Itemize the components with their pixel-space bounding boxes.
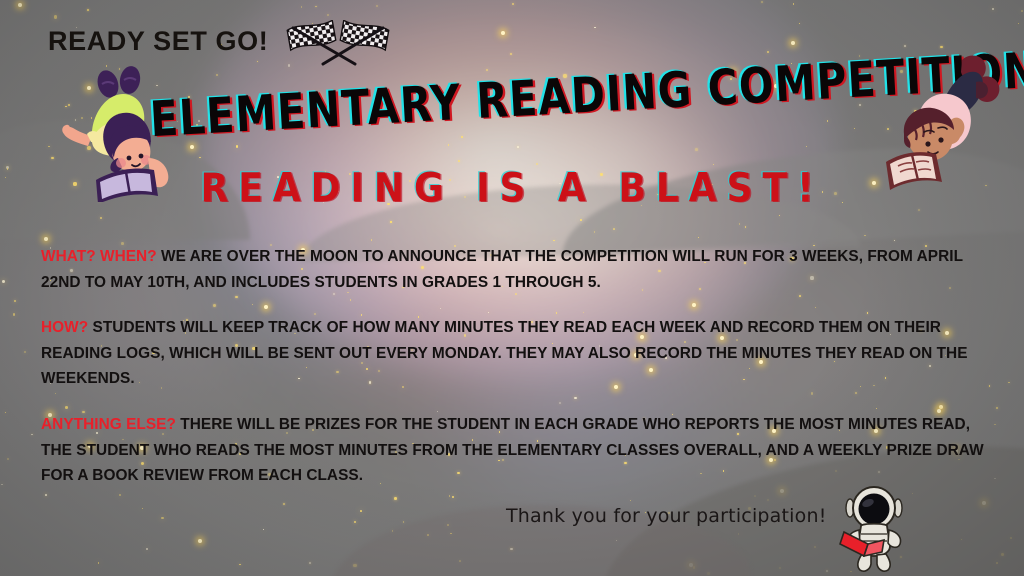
boy-reading-floating-illustration (884, 52, 1020, 190)
body-paragraph: HOW? STUDENTS WILL KEEP TRACK OF HOW MAN… (41, 315, 1001, 392)
paragraph-text: WE ARE OVER THE MOON TO ANNOUNCE THAT TH… (41, 248, 963, 291)
body-paragraph: ANYTHING ELSE? THERE WILL BE PRIZES FOR … (41, 412, 1001, 489)
paragraph-keyword: WHAT? WHEN? (41, 248, 157, 265)
girl-reading-floating-illustration (62, 62, 196, 202)
checkered-racing-flags-icon (283, 20, 393, 73)
poster-canvas: READY SET GO! ELEMENTARY READING COMPETI… (0, 0, 1024, 576)
astronaut-reading-illustration (828, 482, 920, 574)
paragraph-text: STUDENTS WILL KEEP TRACK OF HOW MANY MIN… (41, 319, 968, 387)
paragraph-keyword: ANYTHING ELSE? (41, 416, 176, 433)
paragraph-text: THERE WILL BE PRIZES FOR THE STUDENT IN … (41, 416, 984, 484)
body-content: WHAT? WHEN? WE ARE OVER THE MOON TO ANNO… (41, 244, 1001, 489)
closing-message: Thank you for your participation! (506, 505, 827, 527)
body-paragraph: WHAT? WHEN? WE ARE OVER THE MOON TO ANNO… (41, 244, 1001, 295)
eyebrow-heading: READY SET GO! (48, 26, 268, 57)
paragraph-keyword: HOW? (41, 319, 88, 336)
